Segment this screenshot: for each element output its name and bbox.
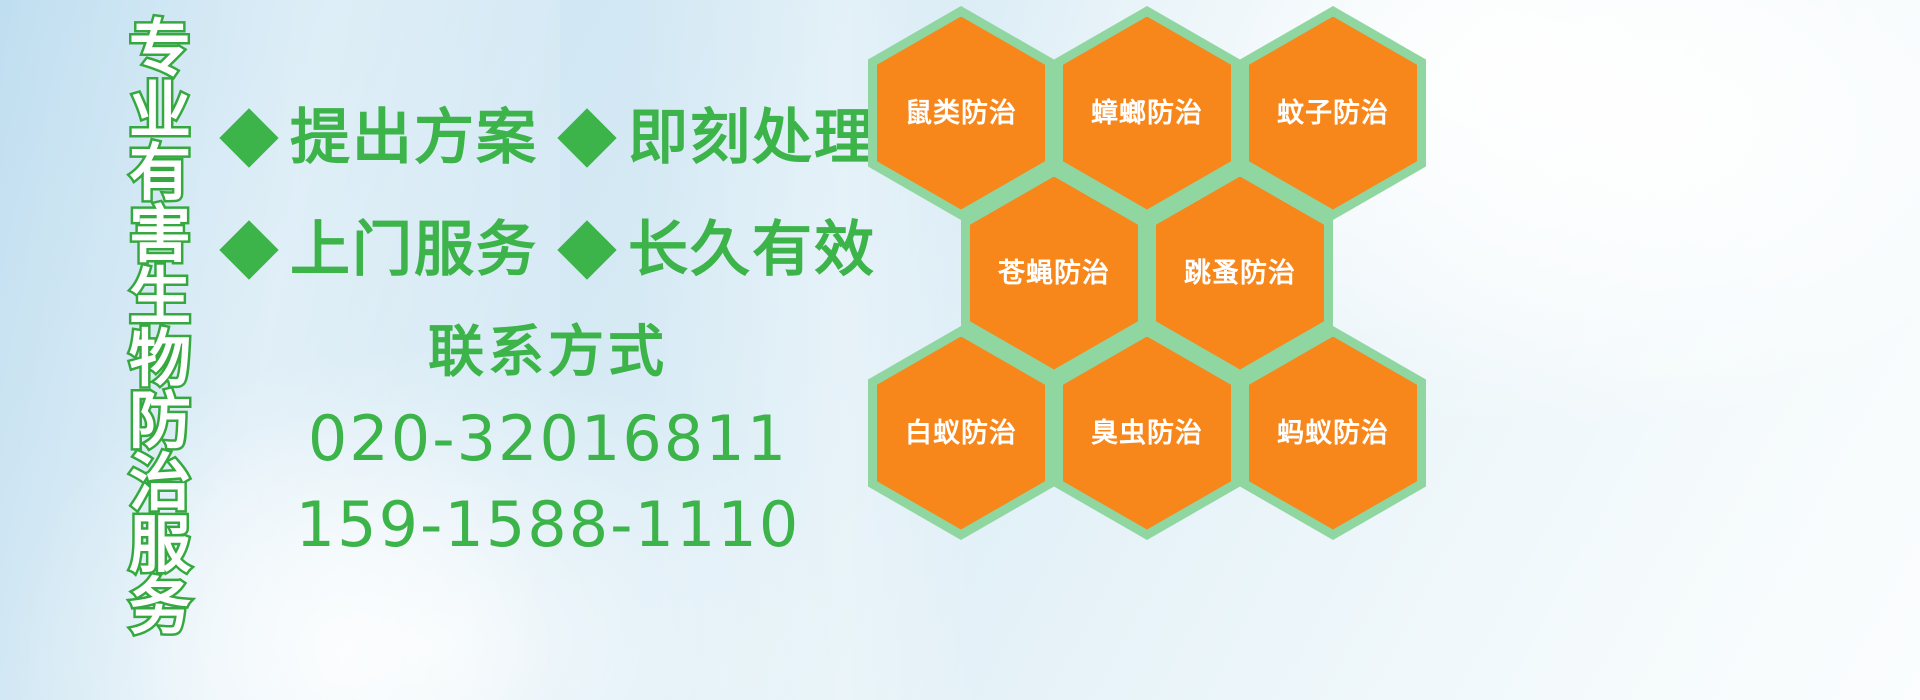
feature-item: 即刻处理 bbox=[566, 108, 876, 168]
hexagon-inner: 跳蚤防治 bbox=[1156, 177, 1324, 370]
hexagon-inner: 苍蝇防治 bbox=[970, 177, 1138, 370]
hexagon-inner: 白蚁防治 bbox=[877, 337, 1045, 530]
service-label: 臭虫防治 bbox=[1091, 420, 1203, 447]
feature-list: 提出方案 即刻处理 上门服务 长久有效 bbox=[228, 82, 868, 306]
hexagon-inner: 蟑螂防治 bbox=[1063, 17, 1231, 210]
hexagon-inner: 鼠类防治 bbox=[877, 17, 1045, 210]
feature-item: 上门服务 bbox=[228, 220, 538, 280]
service-label: 蚊子防治 bbox=[1277, 100, 1389, 127]
feature-label: 即刻处理 bbox=[628, 108, 876, 168]
contact-title: 联系方式 bbox=[228, 318, 868, 388]
pest-control-banner: 专业有害生物防治服务 提出方案 即刻处理 上门服务 长久有效 bbox=[0, 0, 1920, 700]
contact-block: 联系方式 020-32016811 159-1588-1110 bbox=[228, 318, 868, 567]
service-label: 苍蝇防治 bbox=[998, 260, 1110, 287]
contact-phone-mobile[interactable]: 159-1588-1110 bbox=[228, 482, 868, 568]
feature-label: 长久有效 bbox=[628, 220, 876, 280]
feature-row: 上门服务 长久有效 bbox=[228, 194, 868, 306]
hexagon-inner: 蚂蚁防治 bbox=[1249, 337, 1417, 530]
feature-row: 提出方案 即刻处理 bbox=[228, 82, 868, 194]
service-label: 跳蚤防治 bbox=[1184, 260, 1296, 287]
service-label: 蟑螂防治 bbox=[1091, 100, 1203, 127]
service-label: 鼠类防治 bbox=[905, 100, 1017, 127]
hexagon-inner: 蚊子防治 bbox=[1249, 17, 1417, 210]
diamond-icon bbox=[557, 220, 616, 279]
service-label: 白蚁防治 bbox=[905, 420, 1017, 447]
diamond-icon bbox=[219, 108, 278, 167]
feature-item: 提出方案 bbox=[228, 108, 538, 168]
feature-item: 长久有效 bbox=[566, 220, 876, 280]
service-hexagon-grid: 鼠类防治 蟑螂防治 蚊子防治 苍蝇防治 跳蚤防治 白蚁防治 bbox=[858, 0, 1458, 700]
diamond-icon bbox=[219, 220, 278, 279]
contact-phone-landline[interactable]: 020-32016811 bbox=[228, 396, 868, 482]
vertical-headline: 专业有害生物防治服务 bbox=[112, 18, 208, 578]
feature-label: 上门服务 bbox=[290, 220, 538, 280]
service-label: 蚂蚁防治 bbox=[1277, 420, 1389, 447]
hexagon-inner: 臭虫防治 bbox=[1063, 337, 1231, 530]
feature-label: 提出方案 bbox=[290, 108, 538, 168]
diamond-icon bbox=[557, 108, 616, 167]
